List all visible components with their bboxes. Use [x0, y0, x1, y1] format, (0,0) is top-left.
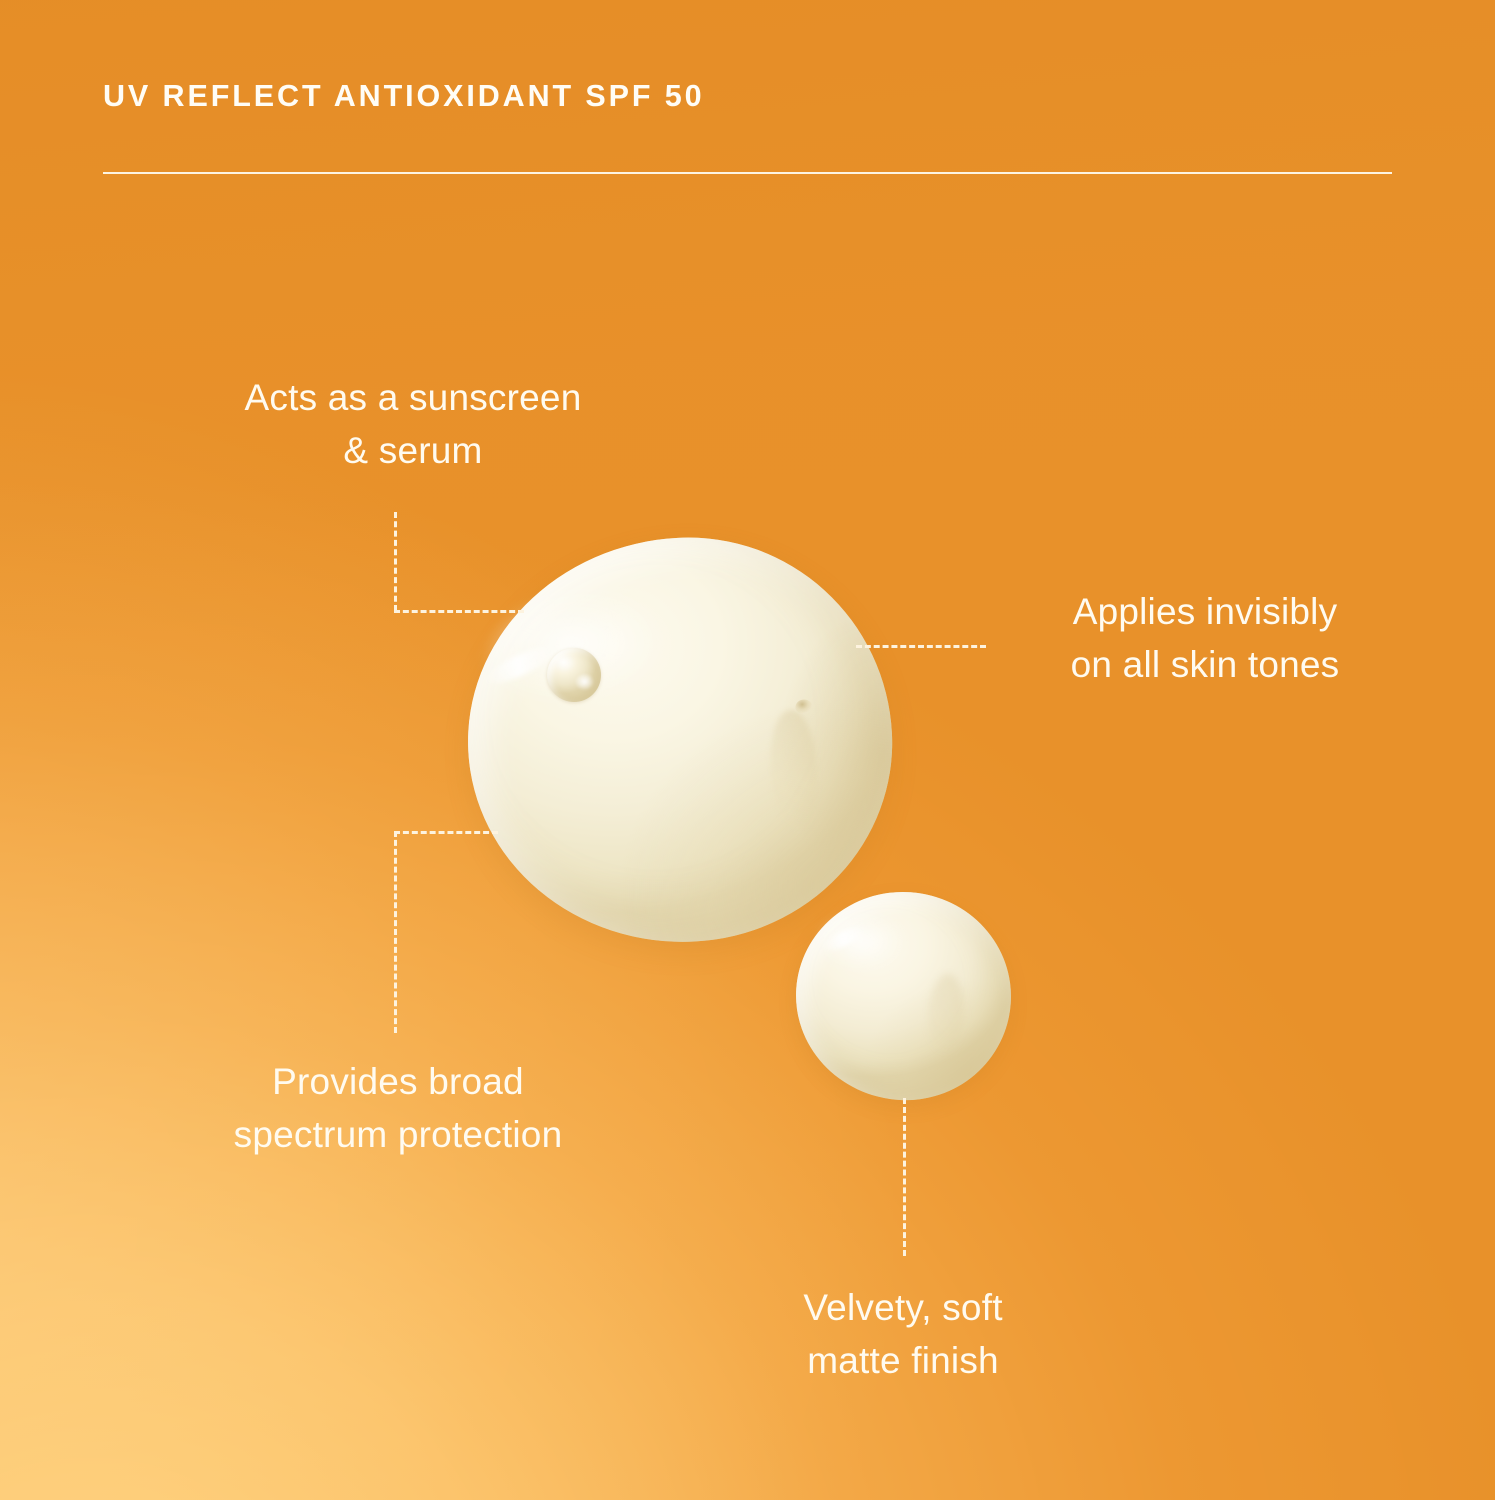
callout-provides-broad-spectrum-protection: Provides broad spectrum protection — [173, 1056, 623, 1161]
large-droplet — [458, 527, 903, 953]
small-droplet-shading — [789, 885, 1018, 1107]
large-droplet-shading — [458, 527, 903, 953]
leader-segment-horizontal — [394, 610, 524, 613]
air-bubble — [547, 648, 601, 702]
small-droplet — [789, 885, 1018, 1107]
droplet-illustration — [0, 0, 1495, 1500]
leader-segment-vertical — [903, 1098, 906, 1256]
leader-segment-horizontal — [856, 645, 986, 648]
air-bubble-rim-highlight — [555, 655, 579, 673]
callout-acts-as-sunscreen-and-serum: Acts as a sunscreen & serum — [183, 372, 643, 477]
leader-segment-vertical — [394, 512, 397, 611]
callout-velvety-soft-matte-finish: Velvety, soft matte finish — [758, 1282, 1048, 1387]
leader-segment-vertical — [394, 831, 397, 1033]
leader-segment-horizontal — [394, 831, 498, 834]
air-bubble-specular-highlight — [575, 674, 596, 693]
product-feature-callout-graphic: UV REFLECT ANTIOXIDANT SPF 50 — [0, 0, 1495, 1500]
callout-applies-invisibly-on-all-skin-tones: Applies invisibly on all skin tones — [1020, 586, 1390, 691]
